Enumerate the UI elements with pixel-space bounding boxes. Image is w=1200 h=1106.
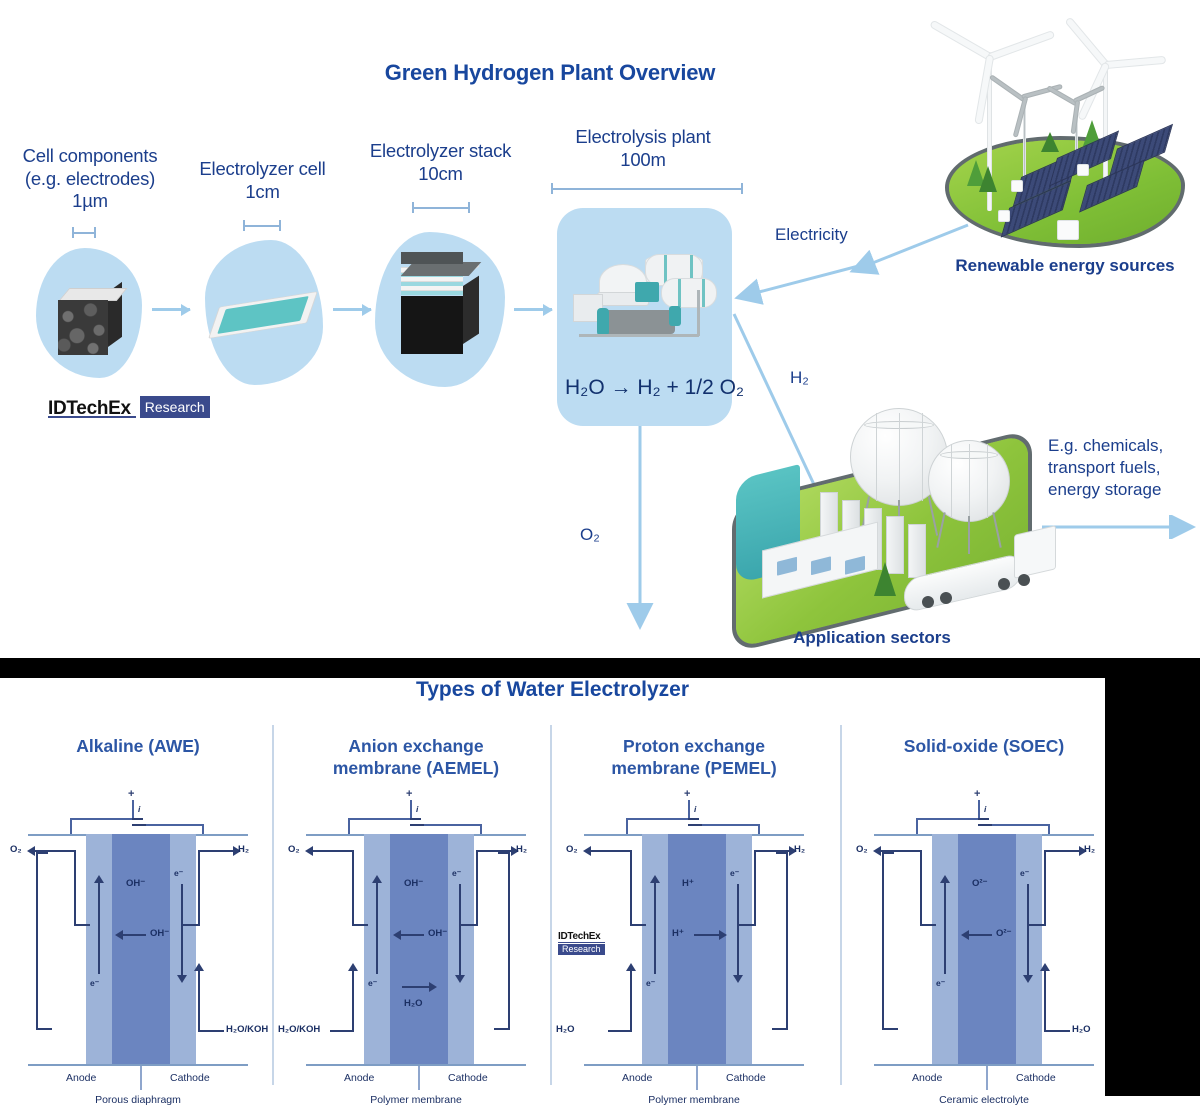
drain-line-left-soec: [882, 854, 884, 1030]
panel-title-line2: membrane (PEMEL): [556, 758, 832, 780]
gas-channel-left-pemel: [630, 850, 632, 926]
current-symbol-aemel: i: [416, 804, 418, 814]
tree-icon: [874, 562, 896, 596]
stage-blob-electrolyzer-cell: [205, 240, 323, 385]
applications-caption: Application sectors: [722, 628, 1022, 648]
gas-arrow-left-aemel: [312, 850, 354, 852]
truck-wheel: [1018, 574, 1030, 586]
scalebar-tick-right: [279, 220, 281, 231]
terminal-plus-soec: +: [974, 788, 980, 800]
sphere-rib: [969, 444, 970, 518]
flow-arrow-1: [152, 308, 190, 311]
gas-channel-right-foot-soec: [1028, 924, 1046, 926]
scalebar-100m: [551, 183, 743, 194]
anode-caption-awe: Anode: [66, 1072, 96, 1084]
cathode-caption-aemel: Cathode: [448, 1072, 488, 1084]
drain-foot-left-awe: [36, 1028, 52, 1030]
panel-title-line1: Alkaline (AWE): [0, 736, 276, 758]
gas-label-left-pemel: O₂: [566, 844, 578, 855]
tree-icon: [979, 166, 997, 192]
drain-top-right-aemel: [498, 852, 510, 854]
gas-label-right-awe: H₂: [238, 844, 249, 855]
ion-label-top-pemel: H⁺: [682, 878, 694, 889]
idtechex-logo-inline: IDTechEx Research: [558, 932, 605, 945]
panel-divider: [840, 725, 842, 1085]
stage-label-electrolysis-plant: Electrolysis plant 100m: [548, 126, 738, 171]
renewable-energy-illustration: Renewable energy sources: [935, 8, 1200, 268]
plant-tank-b: [661, 278, 717, 308]
drain-line-right-pemel: [786, 854, 788, 1030]
feed-line-left-pemel: [608, 1030, 630, 1032]
ion-label-top-soec: O²⁻: [972, 878, 988, 889]
panel-title-awe: Alkaline (AWE): [0, 736, 276, 758]
electrolyzer-types-section: Types of Water Electrolyzer Alkaline (AW…: [0, 678, 1105, 1096]
wind-turbine-mast: [1103, 64, 1108, 184]
electron-arrow-anode-pemel: [654, 882, 656, 974]
membrane-layer-aemel: [390, 834, 448, 1064]
ion-label-mid-soec: O²⁻: [996, 928, 1012, 939]
electron-arrow-cathode-pemel: [737, 884, 739, 976]
cell-schematic-awe: + i O₂ H₂ e⁻ e⁻ OH⁻ OH⁻: [28, 806, 248, 1076]
gas-label-left-soec: O₂: [856, 844, 868, 855]
wind-turbine-blade: [929, 20, 994, 62]
warehouse-window: [777, 557, 797, 576]
wind-turbine-blade: [1064, 16, 1110, 69]
ion-label-mid-awe: OH⁻: [150, 928, 169, 939]
flow-arrow-3: [514, 308, 552, 311]
gas-channel-left-soec: [920, 850, 922, 926]
scalebar-tick-right: [741, 183, 743, 194]
electron-arrow-cathode-awe: [181, 884, 183, 976]
sphere-rib: [987, 444, 988, 518]
wind-turbine-blade: [987, 30, 1056, 61]
solar-inverter-box: [1011, 180, 1023, 192]
solar-inverter-box: [998, 210, 1010, 222]
electron-arrow-anode-awe: [98, 882, 100, 974]
stack-layer: [401, 281, 463, 286]
ion-label-mid-aemel: OH⁻: [428, 928, 447, 939]
idtechex-wordmark: IDTechEx: [48, 396, 136, 418]
cell-schematic-aemel: + i O₂ H₂ e⁻ e⁻ OH⁻ OH⁻: [306, 806, 526, 1076]
scalebar-tick-left: [412, 202, 414, 213]
ion-arrow-mid-soec: [968, 934, 992, 936]
separator-leader-soec: [986, 1066, 988, 1090]
plant-valve: [669, 306, 681, 326]
gas-channel-left-foot-pemel: [630, 924, 646, 926]
gas-channel-right-awe: [198, 850, 200, 926]
drain-line-right-aemel: [508, 854, 510, 1030]
stage-blob-cell-components: [36, 248, 142, 378]
plant-pump: [597, 308, 609, 336]
tank-band: [678, 279, 681, 307]
plant-pipe: [697, 290, 700, 336]
output-arrow: [1040, 515, 1200, 539]
battery-storage-unit: [1057, 220, 1079, 240]
wind-turbine-blade-small: [1046, 85, 1078, 106]
cathode-caption-awe: Cathode: [170, 1072, 210, 1084]
electrolyzer-panel-soec: Solid-oxide (SOEC) + i O₂ H₂ e⁻ e⁻: [846, 706, 1122, 1096]
scalebar-1cm: [243, 220, 281, 231]
membrane-layer-awe: [112, 834, 170, 1064]
process-column: [908, 524, 926, 578]
cell-bottom-rail-soec: [874, 1064, 1094, 1066]
feed-arrow-right-awe: [198, 970, 200, 1032]
gas-label-right-pemel: H₂: [794, 844, 805, 855]
truck-wheel: [922, 596, 934, 608]
scalebar-line: [412, 207, 470, 209]
electron-label-anode-aemel: e⁻: [368, 978, 377, 989]
feed-label-left-pemel: H₂O: [556, 1024, 574, 1035]
anode-caption-aemel: Anode: [344, 1072, 374, 1084]
electrolyzer-panel-aemel: Anion exchange membrane (AEMEL) + i O₂ H…: [278, 706, 554, 1096]
gas-label-left-awe: O₂: [10, 844, 22, 855]
sphere-leg: [968, 516, 970, 554]
flow-arrow-2: [333, 308, 371, 311]
wind-turbine-blade-small: [1013, 96, 1029, 138]
gas-channel-left-foot-awe: [74, 924, 90, 926]
gas-channel-left-aemel: [352, 850, 354, 926]
stage-label-electrolyzer-cell: Electrolyzer cell 1cm: [180, 158, 345, 203]
tree-icon: [1041, 132, 1059, 152]
stage-blob-electrolysis-plant: H₂O → H₂ + 1/2 O₂: [557, 208, 732, 426]
gas-channel-left-awe: [74, 850, 76, 926]
drain-foot-right-pemel: [772, 1028, 788, 1030]
reaction-equation: H₂O → H₂ + 1/2 O₂: [565, 376, 744, 400]
electron-arrow-cathode-aemel: [459, 884, 461, 976]
application-sectors-illustration: Application sectors: [722, 400, 1062, 658]
stage-label-cell-components: Cell components (e.g. electrodes) 1µm: [0, 145, 180, 213]
electrolyzer-panel-pemel: Proton exchange membrane (PEMEL) + i O₂ …: [556, 706, 832, 1096]
panel-title-aemel: Anion exchange membrane (AEMEL): [278, 736, 554, 780]
anode-caption-soec: Anode: [912, 1072, 942, 1084]
cell-schematic-pemel: + i O₂ H₂ e⁻ e⁻ H⁺ H⁺: [584, 806, 804, 1076]
electron-label-cathode-aemel: e⁻: [452, 868, 461, 879]
drain-top-right-pemel: [776, 852, 788, 854]
cathode-caption-pemel: Cathode: [726, 1072, 766, 1084]
plant-pipe: [579, 334, 699, 337]
gas-channel-right-aemel: [476, 850, 478, 926]
warehouse-window: [845, 556, 865, 575]
gas-channel-right-foot-aemel: [460, 924, 478, 926]
cathode-caption-soec: Cathode: [1016, 1072, 1056, 1084]
scalebar-line: [72, 232, 96, 234]
supply-lead-pemel: [688, 800, 690, 818]
drain-top-left-awe: [36, 852, 48, 854]
stack-top-face: [401, 262, 482, 276]
electricity-label: Electricity: [775, 225, 848, 245]
idtechex-wordmark: IDTechEx: [558, 932, 605, 943]
feed-arrow-left-pemel: [630, 970, 632, 1032]
section-title: Types of Water Electrolyzer: [0, 678, 1105, 702]
oxygen-arrow: [622, 424, 662, 644]
cell-bottom-rail-awe: [28, 1064, 248, 1066]
drain-top-left-soec: [882, 852, 894, 854]
scalebar-tick-left: [243, 220, 245, 231]
separator-leader-awe: [140, 1066, 142, 1090]
feed-line-right-soec: [1044, 1030, 1070, 1032]
gas-arrow-right-soec: [1044, 850, 1080, 852]
current-symbol-soec: i: [984, 804, 986, 814]
sphere-rib: [922, 413, 923, 501]
gas-channel-left-foot-soec: [920, 924, 936, 926]
stack-top-plate: [401, 252, 463, 264]
renewables-caption: Renewable energy sources: [930, 256, 1200, 276]
stack-base: [401, 296, 463, 354]
feed-label-left-aemel: H₂O/KOH: [278, 1024, 320, 1035]
plant-module-teal: [635, 282, 659, 302]
ion-label-top-aemel: OH⁻: [404, 878, 423, 889]
scalebar-line: [551, 188, 743, 190]
membrane-layer-pemel: [668, 834, 726, 1064]
scalebar-tick-right: [94, 227, 96, 238]
tank-band: [702, 279, 705, 307]
scalebar-line: [243, 225, 281, 227]
hydrogen-label: H₂: [790, 368, 809, 388]
gas-channel-right-foot-pemel: [738, 924, 756, 926]
panel-title-line2: membrane (AEMEL): [278, 758, 554, 780]
electron-arrow-anode-soec: [944, 882, 946, 974]
gas-label-right-aemel: H₂: [516, 844, 527, 855]
gas-channel-right-pemel: [754, 850, 756, 926]
panel-title-line1: Anion exchange: [278, 736, 554, 758]
truck-wheel: [940, 592, 952, 604]
panel-title-line1: Proton exchange: [556, 736, 832, 758]
drain-foot-right-aemel: [494, 1028, 510, 1030]
separator-leader-pemel: [696, 1066, 698, 1090]
cell-schematic-soec: + i O₂ H₂ e⁻ e⁻ O²⁻ O²⁻: [874, 806, 1094, 1076]
cube-front-face: [58, 300, 108, 355]
supply-lead-aemel: [410, 800, 412, 818]
panel-title-pemel: Proton exchange membrane (PEMEL): [556, 736, 832, 780]
gas-channel-left-foot-aemel: [352, 924, 368, 926]
output-products-label: E.g. chemicals, transport fuels, energy …: [1048, 435, 1163, 501]
supply-lead-soec: [978, 800, 980, 818]
scalebar-tick-left: [72, 227, 74, 238]
drain-line-left-awe: [36, 854, 38, 1030]
panel-title-line1: Solid-oxide (SOEC): [846, 736, 1122, 758]
gas-label-left-aemel: O₂: [288, 844, 300, 855]
plant-heat-exchanger: [603, 310, 675, 334]
scalebar-1um: [72, 227, 96, 238]
gas-channel-right-soec: [1044, 850, 1046, 926]
wind-turbine-blade: [1104, 56, 1166, 69]
truck-wheel: [998, 578, 1010, 590]
electron-label-cathode-pemel: e⁻: [730, 868, 739, 879]
warehouse-window: [811, 556, 831, 575]
porous-electrode-cube-icon: [58, 288, 128, 358]
electrolyzer-panel-awe: Alkaline (AWE) + i O₂ H₂ e⁻ e⁻: [0, 706, 276, 1096]
idtechex-logo: IDTechEx Research: [48, 396, 210, 418]
species-arrow-aemel: [402, 986, 430, 988]
ion-arrow-mid-aemel: [400, 934, 424, 936]
terminal-plus-aemel: +: [406, 788, 412, 800]
electron-arrow-anode-aemel: [376, 882, 378, 974]
ion-arrow-mid-pemel: [694, 934, 720, 936]
feed-line-right-awe: [198, 1030, 224, 1032]
electron-label-anode-pemel: e⁻: [646, 978, 655, 989]
feed-label-right-awe: H₂O/KOH: [226, 1024, 268, 1035]
sphere-rib: [951, 444, 952, 518]
stage-label-electrolyzer-stack: Electrolyzer stack 10cm: [348, 140, 533, 185]
electron-label-cathode-soec: e⁻: [1020, 868, 1029, 879]
separator-leader-aemel: [418, 1066, 420, 1090]
plant-overview-section: Green Hydrogen Plant Overview Cell compo…: [0, 0, 1200, 658]
stage-blob-electrolyzer-stack: [375, 232, 505, 387]
electron-label-anode-soec: e⁻: [936, 978, 945, 989]
cell-bottom-rail-aemel: [306, 1064, 526, 1066]
terminal-plus-pemel: +: [684, 788, 690, 800]
stack-base-side: [463, 276, 479, 344]
oxygen-label: O₂: [580, 525, 600, 545]
ion-arrow-mid-awe: [122, 934, 146, 936]
species-label-aemel: H₂O: [404, 998, 422, 1009]
stack-layer: [401, 290, 463, 295]
black-band-top: [0, 658, 1200, 678]
truck-cab: [1014, 525, 1056, 579]
cell-bottom-rail-pemel: [584, 1064, 804, 1066]
wind-turbine-blade-small: [989, 74, 1026, 102]
solar-inverter-box: [1077, 164, 1089, 176]
supply-lead-awe: [132, 800, 134, 818]
electrolysis-plant-icon: [569, 248, 721, 358]
gas-storage-sphere: [928, 440, 1010, 522]
anode-caption-pemel: Anode: [622, 1072, 652, 1084]
membrane-layer-soec: [958, 834, 1016, 1064]
current-symbol-pemel: i: [694, 804, 696, 814]
idtechex-research-badge: Research: [140, 396, 210, 418]
feed-label-right-soec: H₂O: [1072, 1024, 1090, 1035]
scalebar-10cm: [412, 202, 470, 213]
current-symbol-awe: i: [138, 804, 140, 814]
electron-label-cathode-awe: e⁻: [174, 868, 183, 879]
electron-label-anode-awe: e⁻: [90, 978, 99, 989]
electrolyzer-stack-icon: [401, 250, 491, 368]
drain-foot-left-soec: [882, 1028, 898, 1030]
gas-arrow-left-pemel: [590, 850, 632, 852]
gas-channel-right-foot-awe: [182, 924, 200, 926]
electron-arrow-cathode-soec: [1027, 884, 1029, 976]
scalebar-tick-right: [468, 202, 470, 213]
electrolyzer-cell-plate-icon: [213, 288, 317, 346]
ion-label-mid-pemel: H⁺: [672, 928, 684, 939]
sphere-rib: [899, 413, 900, 501]
gas-label-right-soec: H₂: [1084, 844, 1095, 855]
gas-arrow-right-awe: [198, 850, 234, 852]
feed-line-left-aemel: [330, 1030, 352, 1032]
idtechex-research-badge: Research: [558, 944, 605, 955]
feed-arrow-left-aemel: [352, 970, 354, 1032]
feed-arrow-right-soec: [1044, 970, 1046, 1032]
terminal-plus-awe: +: [128, 788, 134, 800]
panel-title-soec: Solid-oxide (SOEC): [846, 736, 1122, 758]
ion-label-top-awe: OH⁻: [126, 878, 145, 889]
sphere-rib: [876, 413, 877, 501]
scalebar-tick-left: [551, 183, 553, 194]
